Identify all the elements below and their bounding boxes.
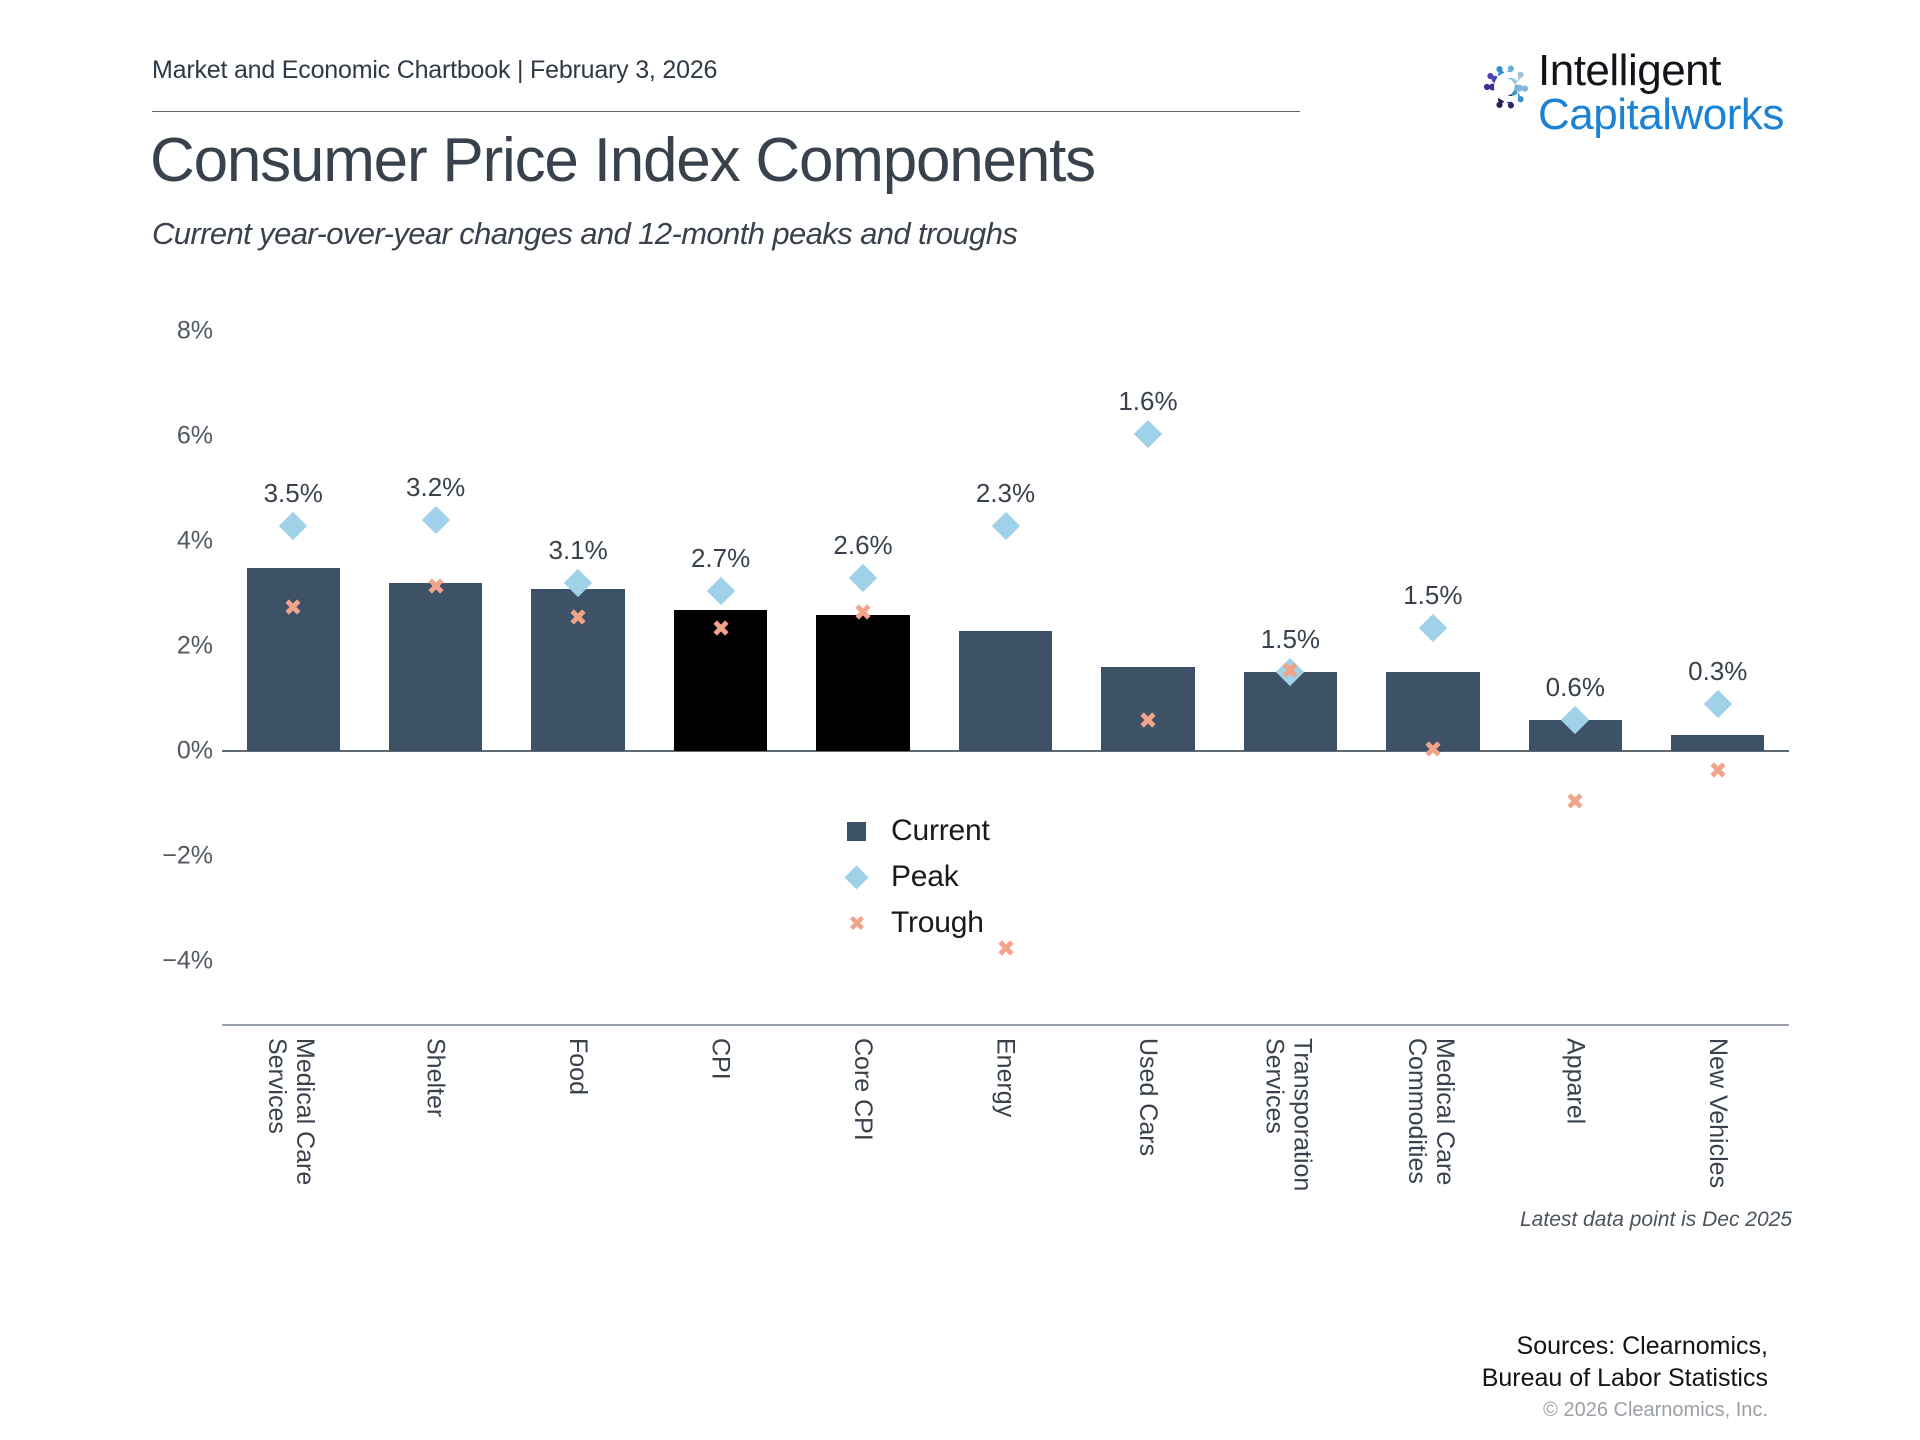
- peak-marker[interactable]: [1704, 690, 1732, 718]
- chart-page: Market and Economic Chartbook | February…: [0, 0, 1920, 1440]
- legend-item-peak[interactable]: Peak: [845, 854, 990, 900]
- peak-marker[interactable]: [422, 506, 450, 534]
- x-axis-line: [222, 1024, 1789, 1026]
- bar[interactable]: [816, 615, 909, 751]
- x-axis-category-label: Apparel: [1561, 1038, 1589, 1124]
- legend-item-current[interactable]: Current: [845, 808, 990, 854]
- bar-value-label: 1.6%: [1118, 386, 1177, 417]
- bar-value-label: 2.7%: [691, 543, 750, 574]
- y-axis-tick-label: −4%: [162, 947, 213, 976]
- bar[interactable]: [959, 631, 1052, 752]
- x-axis-category-label: Medical Care Commodities: [1403, 1038, 1459, 1185]
- legend-label: Peak: [891, 860, 959, 894]
- y-axis-tick-label: 8%: [177, 317, 213, 346]
- y-axis-tick-label: 0%: [177, 737, 213, 766]
- copyright-note: © 2026 Clearnomics, Inc.: [1543, 1399, 1768, 1422]
- trough-marker[interactable]: [1135, 707, 1161, 733]
- bar-value-label: 1.5%: [1403, 580, 1462, 611]
- trough-marker[interactable]: [708, 615, 734, 641]
- trough-marker[interactable]: [1420, 736, 1446, 762]
- chart-legend: Current Peak Trough: [845, 808, 990, 946]
- square-icon: [845, 822, 887, 841]
- x-axis-category-label: Core CPI: [849, 1038, 877, 1141]
- latest-data-note: Latest data point is Dec 2025: [1520, 1208, 1792, 1232]
- x-axis-category-label: Food: [564, 1038, 592, 1095]
- x-axis-category-label: Shelter: [422, 1038, 450, 1117]
- bar[interactable]: [1671, 735, 1764, 751]
- peak-marker[interactable]: [1419, 614, 1447, 642]
- y-axis-tick-label: 6%: [177, 422, 213, 451]
- bar-value-label: 0.3%: [1688, 656, 1747, 687]
- x-axis-category-label: New Vehicles: [1704, 1038, 1732, 1188]
- trough-marker[interactable]: [1562, 788, 1588, 814]
- bar[interactable]: [389, 583, 482, 751]
- x-axis-category-label: Energy: [992, 1038, 1020, 1117]
- trough-marker[interactable]: [423, 573, 449, 599]
- legend-label: Current: [891, 814, 990, 848]
- sources-note: Sources: Clearnomics, Bureau of Labor St…: [1482, 1330, 1768, 1394]
- peak-marker[interactable]: [1134, 420, 1162, 448]
- bar-value-label: 2.6%: [833, 530, 892, 561]
- peak-marker[interactable]: [849, 564, 877, 592]
- trough-marker[interactable]: [993, 935, 1019, 961]
- y-axis-tick-label: 4%: [177, 527, 213, 556]
- peak-marker[interactable]: [991, 511, 1019, 539]
- x-axis-category-label: CPI: [707, 1038, 735, 1080]
- bar-value-label: 2.3%: [976, 478, 1035, 509]
- bar-value-label: 1.5%: [1261, 624, 1320, 655]
- bar-value-label: 0.6%: [1546, 672, 1605, 703]
- diamond-icon: [845, 869, 887, 886]
- bar-value-label: 3.5%: [264, 478, 323, 509]
- trough-marker[interactable]: [565, 604, 591, 630]
- x-axis-category-label: Medical Care Services: [263, 1038, 319, 1185]
- y-axis-tick-label: 2%: [177, 632, 213, 661]
- bar-value-label: 3.1%: [548, 535, 607, 566]
- trough-marker[interactable]: [1277, 657, 1303, 683]
- x-axis-category-label: Transporation Services: [1260, 1038, 1316, 1191]
- trough-marker[interactable]: [850, 599, 876, 625]
- peak-marker[interactable]: [706, 577, 734, 605]
- x-axis-category-label: Used Cars: [1134, 1038, 1162, 1156]
- bar-value-label: 3.2%: [406, 472, 465, 503]
- y-axis-tick-label: −2%: [162, 842, 213, 871]
- legend-item-trough[interactable]: Trough: [845, 900, 990, 946]
- x-cross-icon: [845, 911, 887, 935]
- peak-marker[interactable]: [279, 511, 307, 539]
- sources-line-2: Bureau of Labor Statistics: [1482, 1362, 1768, 1394]
- trough-marker[interactable]: [1705, 757, 1731, 783]
- sources-line-1: Sources: Clearnomics,: [1482, 1330, 1768, 1362]
- trough-marker[interactable]: [280, 594, 306, 620]
- legend-label: Trough: [891, 906, 984, 940]
